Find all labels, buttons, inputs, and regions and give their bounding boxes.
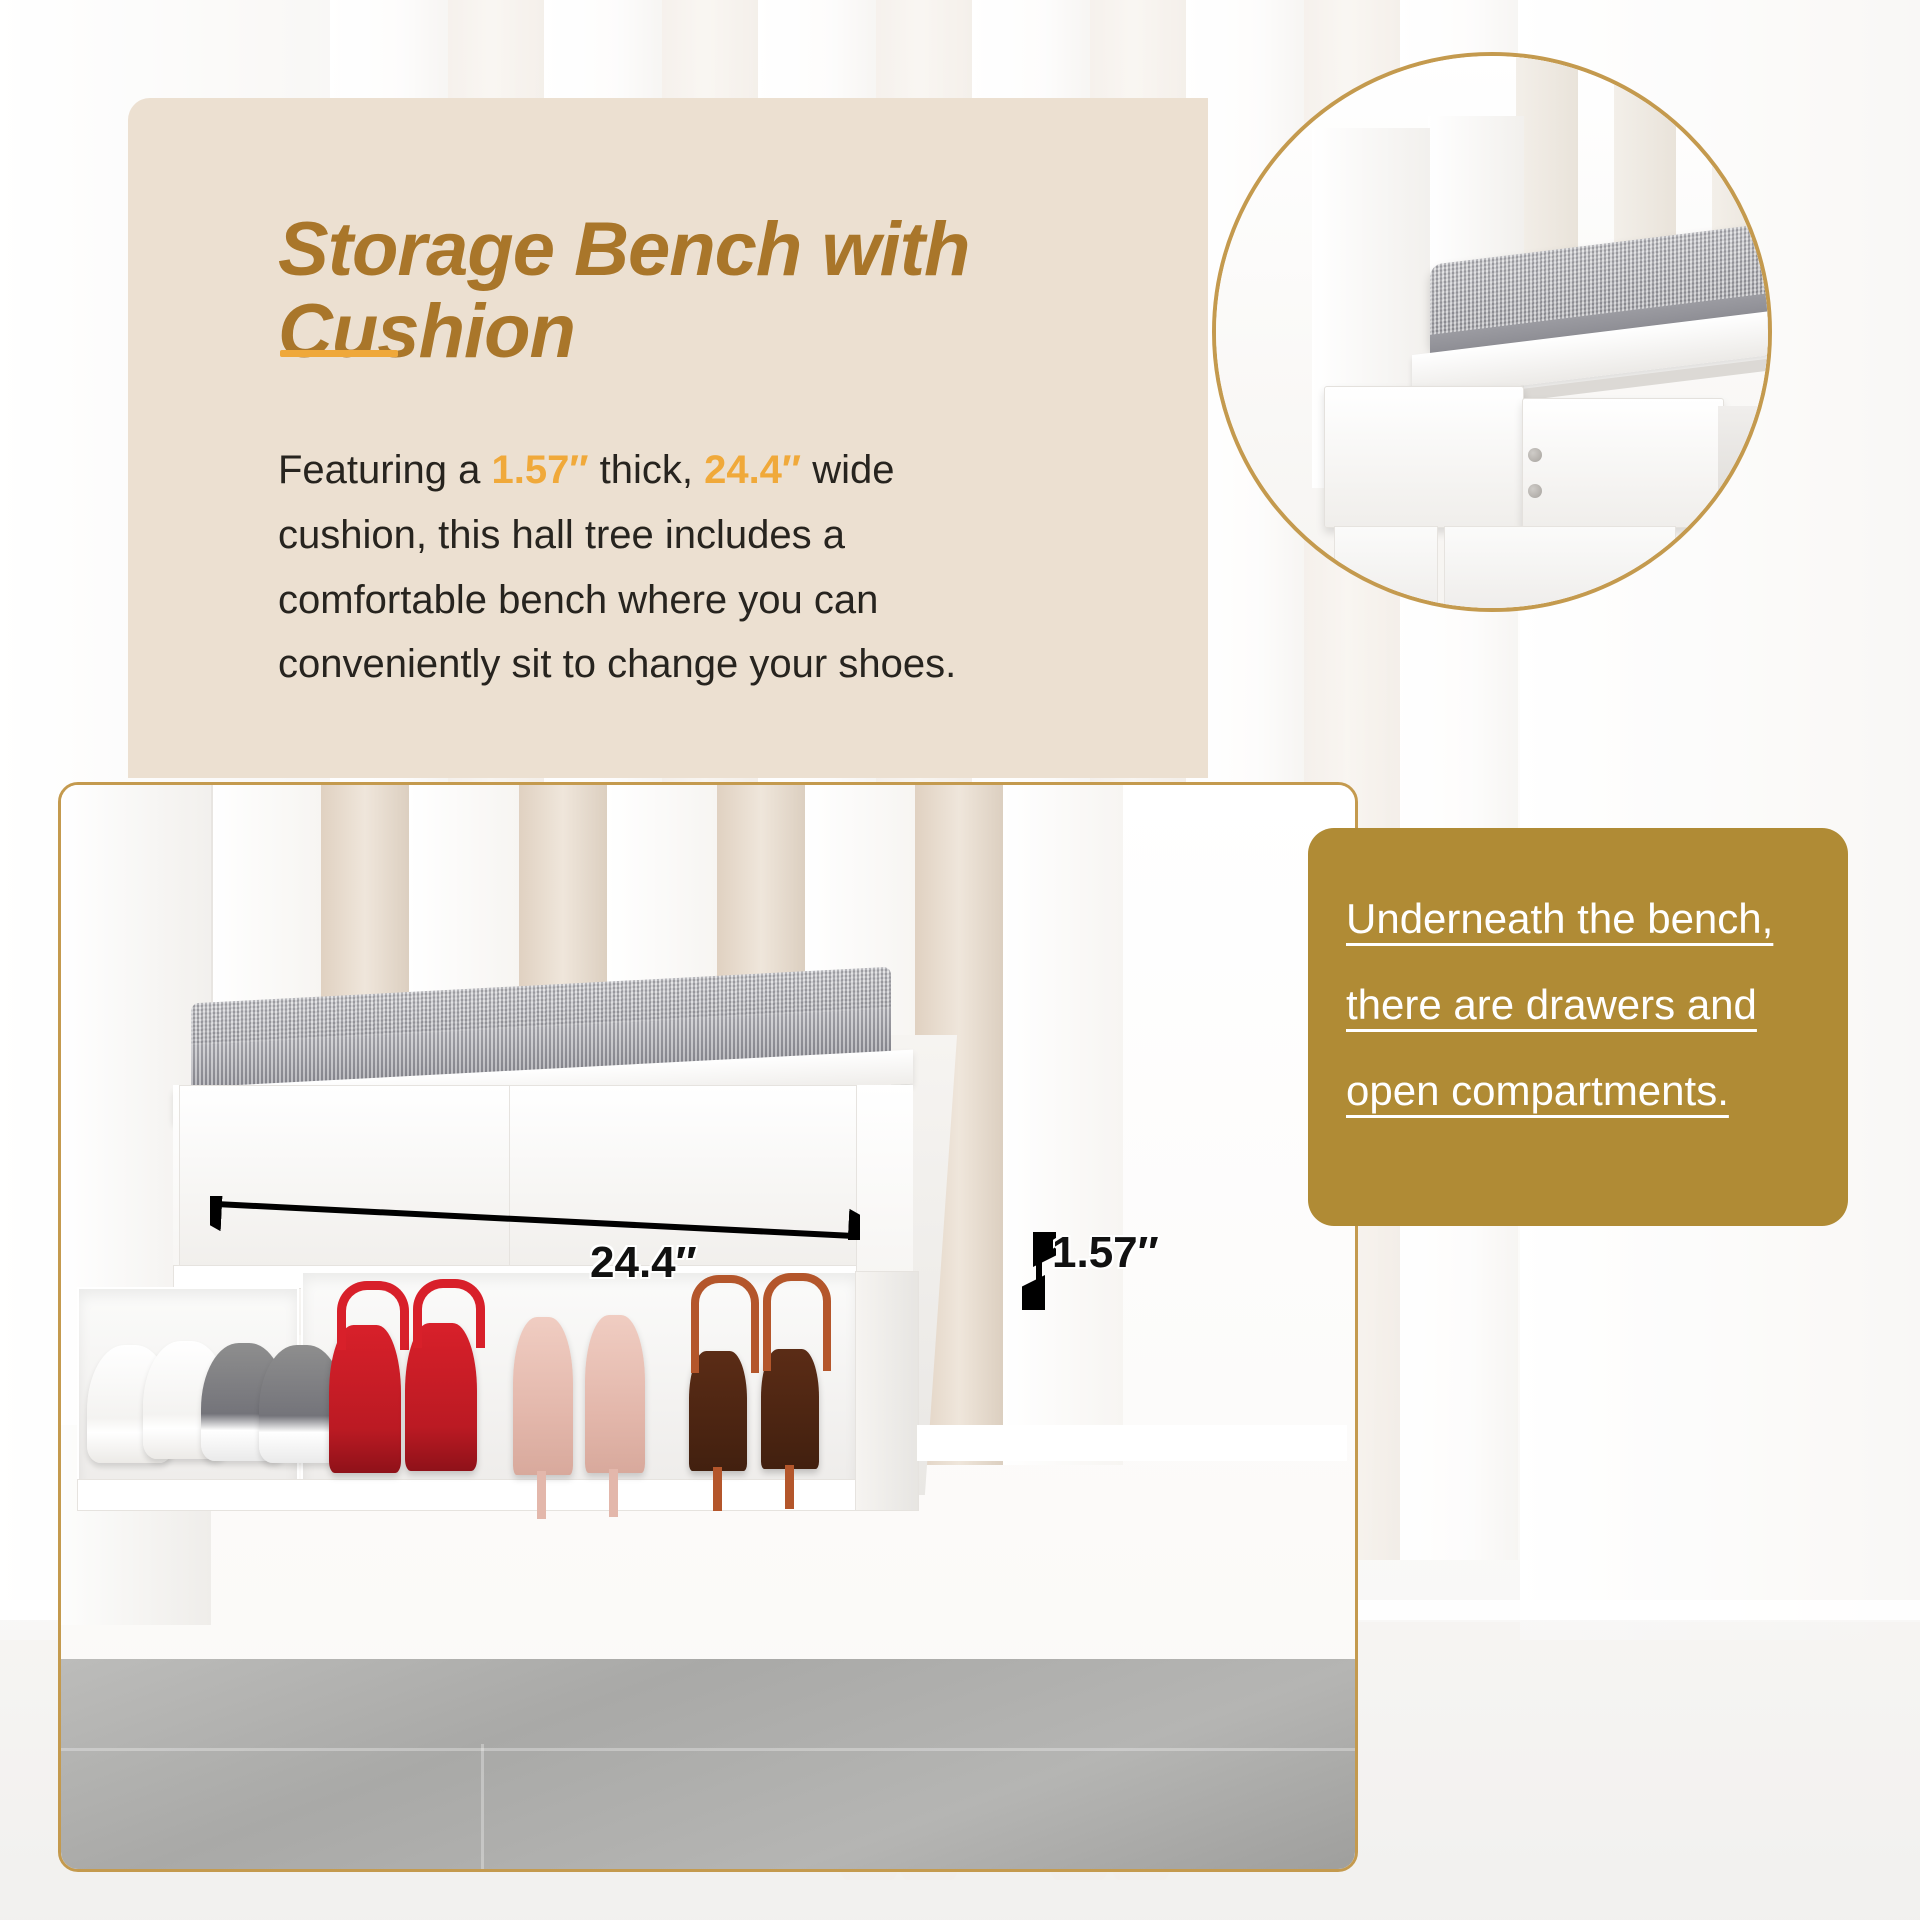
callout-box: Underneath the bench, there are drawers … — [1308, 828, 1848, 1226]
callout-line-1: Underneath the bench, — [1346, 895, 1773, 942]
shoe-red-wedge — [405, 1323, 477, 1471]
photo-slat — [1003, 785, 1123, 1465]
cushion-thickness-label: 1.57″ — [1052, 1228, 1159, 1278]
shoe-strap — [337, 1281, 409, 1350]
body-description: Featuring a 1.57″ thick, 24.4″ wide cush… — [278, 438, 1040, 697]
shoe-strap — [691, 1275, 759, 1373]
inset-drawer-screw — [1528, 484, 1542, 498]
inset-drawer-screw — [1528, 448, 1542, 462]
shoe-strap — [413, 1279, 485, 1348]
title-divider — [280, 350, 398, 357]
highlight-width: 24.4″ — [704, 448, 801, 492]
cushion-width-label: 24.4″ — [590, 1238, 697, 1288]
callout-line-2: there are drawers and — [1346, 981, 1757, 1028]
main-product-photo — [58, 782, 1358, 1872]
shoe-strap — [763, 1273, 831, 1371]
body-text-part-2: thick, — [588, 448, 704, 492]
shoe-red-wedge — [329, 1325, 401, 1473]
shoe-brown-heel — [689, 1351, 747, 1471]
shoe-heel — [785, 1465, 794, 1509]
photo-floor-grout — [481, 1744, 484, 1869]
width-dimension-arrow — [210, 1196, 860, 1240]
inset-open-compartment-left — [1334, 526, 1438, 612]
callout-text: Underneath the bench, there are drawers … — [1346, 876, 1816, 1134]
shoe-nude-pump — [585, 1315, 645, 1473]
thickness-dimension-arrow — [1022, 1232, 1056, 1310]
inset-open-compartment-right — [1444, 526, 1676, 612]
highlight-thickness: 1.57″ — [491, 448, 588, 492]
shoe-heel — [537, 1471, 546, 1519]
photo-floor — [61, 1659, 1355, 1869]
shoe-heel — [609, 1469, 618, 1517]
inset-slide-rail — [1718, 406, 1772, 518]
bench-right-panel — [855, 1271, 919, 1511]
photo-baseboard — [917, 1425, 1347, 1461]
inset-drawer-right[interactable] — [1522, 398, 1724, 528]
body-text-part-1: Featuring a — [278, 448, 491, 492]
inset-drawer-left[interactable] — [1324, 386, 1524, 528]
shoe-brown-heel — [761, 1349, 819, 1469]
shoe-nude-pump — [513, 1317, 573, 1475]
copy-panel: Storage Bench with Cushion Featuring a 1… — [128, 98, 1208, 778]
shoe-heel — [713, 1467, 722, 1511]
page-title: Storage Bench with Cushion — [278, 209, 1038, 373]
photo-floor-grout — [61, 1748, 1358, 1751]
callout-line-3: open compartments. — [1346, 1067, 1729, 1114]
detail-inset-photo — [1212, 52, 1772, 612]
